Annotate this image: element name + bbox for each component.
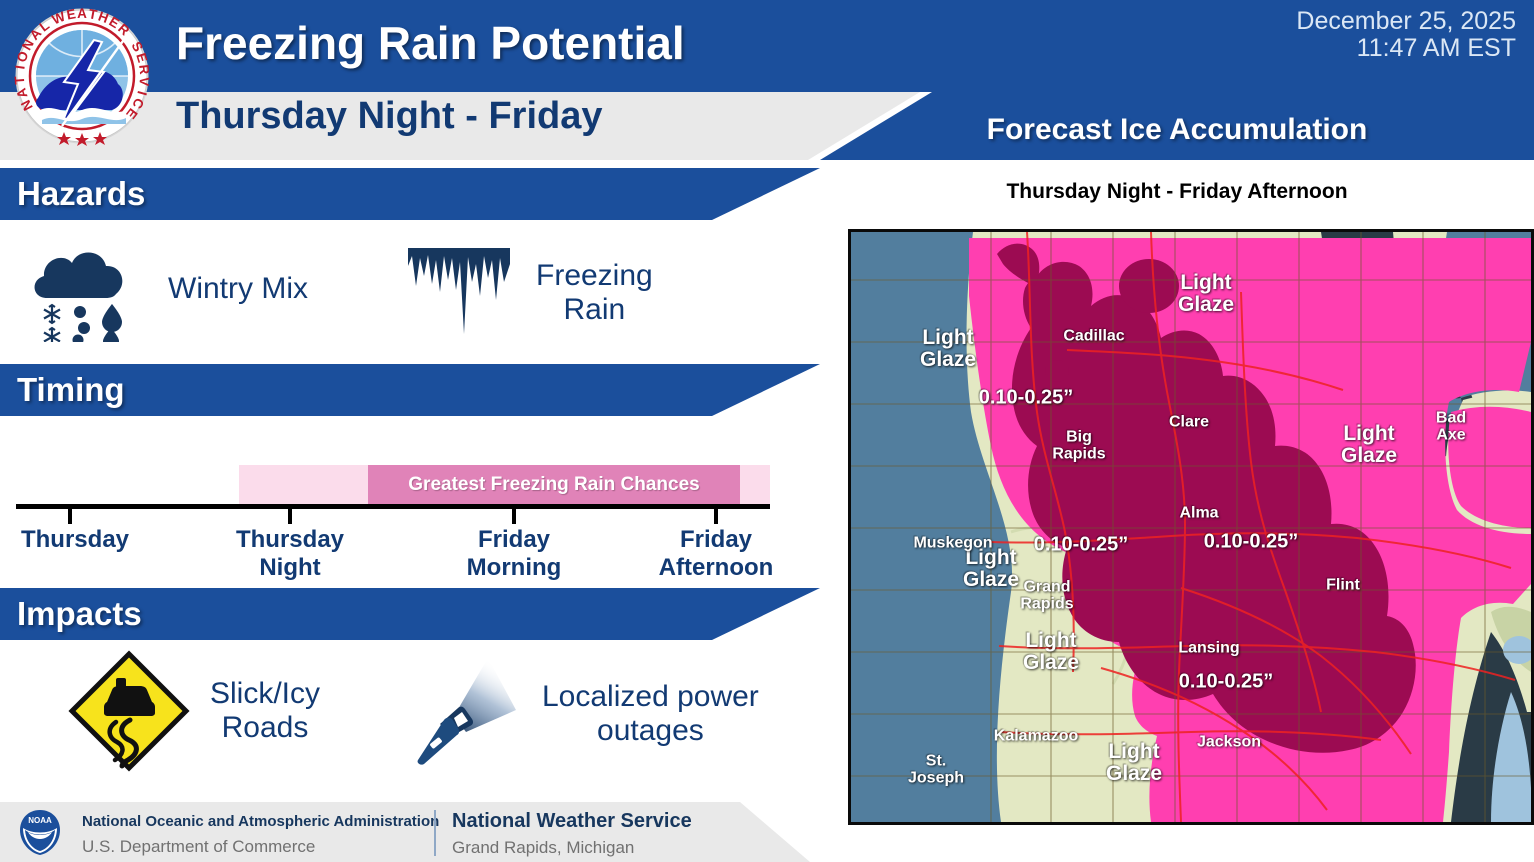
- hazard-label-freezing-rain: Freezing Rain: [536, 259, 653, 326]
- hazard-item-wintry-mix: Wintry Mix: [22, 236, 308, 342]
- timeline-tick-3: [714, 509, 718, 524]
- map-canvas: Light GlazeLight GlazeLight GlazeLight G…: [851, 232, 1531, 822]
- icicles-freezing-rain-icon: [404, 238, 514, 348]
- svg-text:NOAA: NOAA: [28, 816, 52, 825]
- impacts-band-label: Impacts: [17, 595, 142, 633]
- timeline-label-3: Friday Afternoon: [634, 526, 798, 582]
- timeline-tick-1: [288, 509, 292, 524]
- svg-text:R: R: [136, 64, 152, 76]
- hazards-band: Hazards: [0, 168, 820, 220]
- page-subtitle: Thursday Night - Friday: [176, 95, 602, 138]
- timing-band-label: Timing: [17, 371, 125, 409]
- timeline-tick-2: [512, 509, 516, 524]
- timeline-tick-0: [68, 509, 72, 524]
- timeline-axis: [16, 504, 770, 509]
- impacts-band: Impacts: [0, 588, 820, 640]
- impacts-row: Slick/Icy Roads: [0, 648, 810, 788]
- footer: NOAA National Oceanic and Atmospheric Ad…: [0, 802, 810, 862]
- timeline-label-1: Thursday Night: [215, 526, 365, 582]
- impact-label-power-outages: Localized power outages: [542, 680, 759, 749]
- timing-band: Timing: [0, 364, 820, 416]
- map-panel-title: Forecast Ice Accumulation: [820, 104, 1534, 156]
- national-weather-service-seal: N A T I O N A L W E A T H E R S E R V I: [8, 6, 156, 146]
- footer-office-line2: Grand Rapids, Michigan: [452, 838, 634, 858]
- footer-agency-line2: U.S. Department of Commerce: [82, 837, 315, 857]
- timeline-label-0: Thursday: [0, 526, 150, 554]
- impact-label-slick-roads: Slick/Icy Roads: [210, 677, 320, 746]
- footer-divider: [434, 810, 436, 856]
- footer-agency-line1: National Oceanic and Atmospheric Adminis…: [82, 813, 439, 830]
- timeline-bar-label: Greatest Freezing Rain Chances: [368, 465, 740, 504]
- forecast-ice-accumulation-map[interactable]: Light GlazeLight GlazeLight GlazeLight G…: [848, 229, 1534, 825]
- infographic-root: N A T I O N A L W E A T H E R S E R V I: [0, 0, 1534, 862]
- impact-item-slick-roads: Slick/Icy Roads: [68, 650, 320, 772]
- hazards-band-label: Hazards: [17, 175, 145, 213]
- hazard-label-wintry-mix: Wintry Mix: [168, 272, 308, 306]
- footer-office-line1: National Weather Service: [452, 810, 692, 833]
- flashlight-icon: [410, 656, 528, 772]
- hazard-item-freezing-rain: Freezing Rain: [404, 238, 653, 348]
- svg-text:E: E: [65, 6, 76, 22]
- map-boundaries-layer: [851, 232, 1531, 822]
- timeline-label-2: Friday Morning: [439, 526, 589, 582]
- timeline: Greatest Freezing Rain Chances Thursday …: [0, 440, 820, 590]
- page-title: Freezing Rain Potential: [176, 16, 685, 70]
- issued-date: December 25, 2025: [1296, 8, 1516, 35]
- map-panel-subtitle: Thursday Night - Friday Afternoon: [820, 180, 1534, 204]
- issued-time: 11:47 AM EST: [1296, 35, 1516, 62]
- wintry-mix-icon: [22, 236, 142, 342]
- svg-text:V: V: [136, 76, 152, 86]
- hazards-row: Wintry Mix Freezing Rain: [0, 228, 810, 358]
- issued-datetime: December 25, 2025 11:47 AM EST: [1296, 8, 1516, 62]
- impact-item-power-outages: Localized power outages: [410, 656, 759, 772]
- svg-text:T: T: [12, 75, 28, 85]
- noaa-seal: NOAA: [16, 808, 64, 856]
- svg-text:A: A: [77, 6, 87, 21]
- slippery-road-sign-icon: [68, 650, 190, 772]
